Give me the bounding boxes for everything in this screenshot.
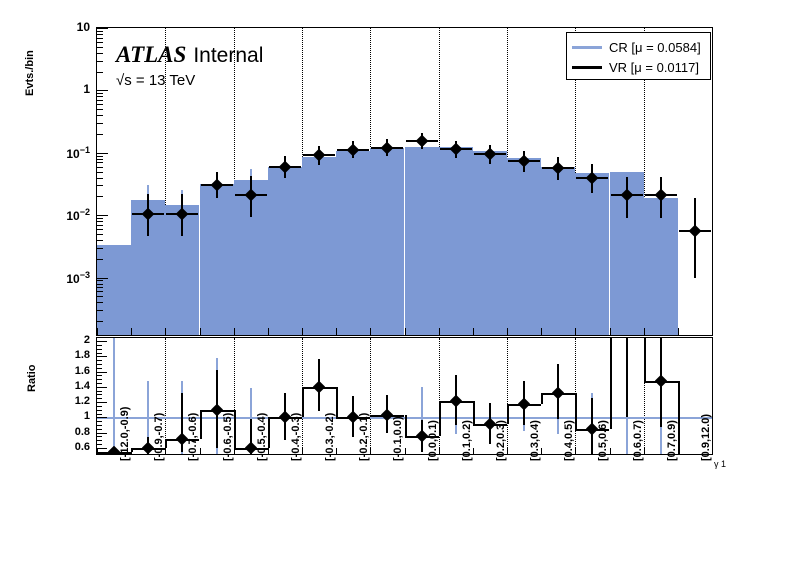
ratio-y-tick-label: 0.6: [42, 441, 90, 453]
ratio-y-minor-tick: [97, 448, 102, 449]
x-axis-tick: [644, 328, 645, 335]
main-y-minor-tick: [97, 302, 103, 303]
main-y-minor-tick: [97, 321, 103, 322]
x-axis-category-label: [-0.3,-0.2): [324, 413, 336, 461]
ratio-y-minor-tick: [97, 452, 102, 453]
ratio-step-riser: [405, 415, 407, 436]
x-axis-tick: [200, 328, 201, 335]
x-axis-tick: [439, 328, 440, 335]
main-y-minor-tick: [97, 221, 103, 222]
legend-entry-vr: VR [μ = 0.0117]: [572, 57, 705, 77]
x-axis-tick: [131, 328, 132, 335]
cr-histogram-bar: [473, 151, 507, 335]
x-axis-tick: [405, 328, 406, 335]
ratio-x-axis-tick: [541, 448, 542, 454]
main-y-minor-tick: [97, 34, 103, 35]
main-y-minor-tick: [97, 248, 103, 249]
main-y-minor-tick: [97, 100, 103, 101]
x-axis-tick: [97, 328, 98, 335]
main-y-tick-label: 10−1: [40, 145, 90, 161]
x-axis-tick: [165, 328, 166, 335]
main-y-minor-tick: [97, 234, 103, 235]
ratio-step-riser: [200, 410, 202, 439]
ratio-y-minor-tick: [97, 353, 102, 354]
atlas-status-label: Internal: [193, 44, 263, 68]
ratio-y-minor-tick: [97, 383, 102, 384]
cr-histogram-bar: [302, 157, 336, 335]
ratio-y-tick-label: 1.4: [42, 380, 90, 392]
ratio-x-axis-tick: [200, 448, 201, 454]
ratio-x-axis-tick: [131, 448, 132, 454]
ratio-x-axis-tick: [405, 448, 406, 454]
legend-entry-cr: CR [μ = 0.0584]: [572, 37, 705, 57]
ratio-data-marker: [654, 374, 667, 387]
main-y-major-tick: [97, 28, 108, 29]
ratio-y-minor-tick: [97, 394, 102, 395]
main-y-minor-tick: [97, 72, 103, 73]
cr-histogram-bar: [200, 184, 234, 335]
ratio-y-minor-tick: [97, 421, 102, 422]
ratio-error-bar: [626, 337, 628, 417]
x-axis-tick: [336, 328, 337, 335]
ratio-step-edge: [678, 381, 680, 454]
x-axis-category-label: [0.7,0.9): [666, 420, 678, 461]
ratio-x-axis-tick: [712, 448, 713, 454]
ratio-x-axis-tick: [302, 448, 303, 454]
x-axis-category-label: [-0.6,-0.5): [222, 413, 234, 461]
ratio-y-tick-label: 1.8: [42, 349, 90, 361]
ratio-y-minor-tick: [97, 345, 102, 346]
x-axis-category-label: [-0.2,-0.1): [358, 413, 370, 461]
x-axis-category-label: [-0.4,-0.3): [290, 413, 302, 461]
ratio-data-marker: [518, 397, 531, 410]
ratio-y-minor-tick: [97, 417, 102, 418]
x-axis-category-label: [-0.5,-0.4): [256, 413, 268, 461]
main-y-minor-tick: [97, 296, 103, 297]
x-axis-category-label: [0.5,0.6): [597, 420, 609, 461]
grid-line-vertical: [370, 338, 371, 454]
ratio-y-minor-tick: [97, 398, 102, 399]
x-axis-category-label: [0.6,0.7): [632, 420, 644, 461]
grid-line-vertical: [165, 338, 166, 454]
main-y-minor-tick: [97, 196, 103, 197]
ratio-y-minor-tick: [97, 406, 102, 407]
vr-error-bar: [694, 198, 696, 277]
main-y-minor-tick: [97, 96, 103, 97]
main-y-major-tick: [97, 278, 108, 279]
ratio-step-riser: [165, 439, 167, 448]
main-y-minor-tick: [97, 38, 103, 39]
ratio-y-minor-tick: [97, 440, 102, 441]
x-axis-category-label: [-12.0,-0.9): [119, 407, 131, 461]
main-y-tick-label: 10: [40, 20, 90, 34]
main-y-minor-tick: [97, 159, 103, 160]
ratio-y-minor-tick: [97, 356, 102, 357]
x-axis-tick: [712, 328, 713, 335]
cr-histogram-bar: [507, 158, 541, 335]
ratio-y-minor-tick: [97, 349, 102, 350]
main-y-major-tick: [97, 90, 108, 91]
main-y-minor-tick: [97, 115, 103, 116]
ratio-step-riser: [575, 393, 577, 429]
ratio-step-riser: [268, 417, 270, 448]
main-y-tick-label: 10−3: [40, 270, 90, 286]
ratio-data-marker: [313, 380, 326, 393]
main-y-minor-tick: [97, 185, 103, 186]
ratio-step-riser: [507, 404, 509, 425]
ratio-y-minor-tick: [97, 372, 102, 373]
ratio-y-minor-tick: [97, 410, 102, 411]
ratio-y-tick-label: 1.2: [42, 395, 90, 407]
cr-histogram-bar: [439, 147, 473, 335]
ratio-x-axis-tick: [336, 448, 337, 454]
ratio-y-minor-tick: [97, 444, 102, 445]
ratio-x-axis-tick: [370, 448, 371, 454]
main-y-tick-label: 1: [40, 82, 90, 96]
x-axis-category-label: [0.3,0.4): [529, 420, 541, 461]
main-y-minor-tick: [97, 104, 103, 105]
main-y-minor-tick: [97, 284, 103, 285]
main-y-minor-tick: [97, 225, 103, 226]
x-axis-tick: [473, 328, 474, 335]
ratio-data-marker: [449, 394, 462, 407]
ratio-step-riser: [302, 387, 304, 418]
main-y-minor-tick: [97, 93, 103, 94]
x-axis-category-label: [-0.9,-0.7): [153, 413, 165, 461]
cr-histogram-bar: [644, 198, 678, 335]
x-axis-category-label: [0.1,0.2): [461, 420, 473, 461]
cr-histogram-bar: [575, 173, 609, 335]
main-y-minor-tick: [97, 178, 103, 179]
ratio-y-minor-tick: [97, 364, 102, 365]
main-y-minor-tick: [97, 61, 103, 62]
x-axis-tick: [678, 328, 679, 335]
x-axis-tick: [370, 328, 371, 335]
ratio-y-tick-label: 1.6: [42, 365, 90, 377]
main-y-minor-tick: [97, 109, 103, 110]
ratio-y-minor-tick: [97, 436, 102, 437]
legend-box: CR [μ = 0.0584] VR [μ = 0.0117]: [566, 32, 711, 80]
ratio-step-riser: [473, 401, 475, 425]
cr-histogram-bar: [405, 147, 439, 335]
x-axis-tick: [234, 328, 235, 335]
ratio-y-minor-tick: [97, 341, 102, 342]
ratio-cr-uncertainty-whisker: [113, 338, 115, 454]
ratio-step-riser: [370, 415, 372, 417]
x-axis-tick: [541, 328, 542, 335]
legend-label-cr: CR [μ = 0.0584]: [609, 40, 701, 55]
x-axis-category-label: [0.0,0.1): [427, 420, 439, 461]
gamma-axis-note: γ 1: [714, 459, 726, 469]
figure-canvas: Evts./bin Ratio 10110−110−210−3 ATLAS In…: [0, 0, 796, 572]
main-y-minor-tick: [97, 31, 103, 32]
legend-swatch-cr: [572, 46, 602, 49]
ratio-y-minor-tick: [97, 379, 102, 380]
atlas-label-block: ATLAS Internal √s = 13 TeV: [116, 42, 263, 89]
cr-histogram-bar: [370, 148, 404, 335]
ratio-y-minor-tick: [97, 360, 102, 361]
main-y-minor-tick: [97, 310, 103, 311]
ratio-y-minor-tick: [97, 429, 102, 430]
ratio-y-minor-tick: [97, 391, 102, 392]
ratio-data-marker: [552, 387, 565, 400]
legend-swatch-vr: [572, 66, 602, 69]
ratio-y-tick-label: 2: [42, 334, 90, 346]
main-y-minor-tick: [97, 42, 103, 43]
legend-label-vr: VR [μ = 0.0117]: [609, 60, 699, 75]
ratio-y-tick-label: 0.8: [42, 426, 90, 438]
ratio-y-tick-label: 1: [42, 410, 90, 422]
cr-histogram-bar: [541, 167, 575, 335]
ratio-y-minor-tick: [97, 368, 102, 369]
main-y-minor-tick: [97, 162, 103, 163]
cr-histogram-bar: [336, 151, 370, 335]
main-y-minor-tick: [97, 287, 103, 288]
main-y-minor-tick: [97, 156, 103, 157]
x-axis-category-label: [-0.7,-0.6): [187, 413, 199, 461]
main-y-minor-tick: [97, 218, 103, 219]
ratio-x-axis-tick: [165, 448, 166, 454]
ratio-step-riser: [610, 337, 612, 429]
grid-line-vertical: [507, 338, 508, 454]
ratio-x-axis-tick: [575, 448, 576, 454]
main-y-minor-tick: [97, 240, 103, 241]
ratio-y-minor-tick: [97, 402, 102, 403]
ratio-step-riser: [336, 387, 338, 418]
x-axis-tick: [610, 328, 611, 335]
x-axis-tick: [507, 328, 508, 335]
main-y-minor-tick: [97, 53, 103, 54]
ratio-y-minor-tick: [97, 387, 102, 388]
ratio-step-riser: [644, 337, 646, 381]
x-axis-category-label: [-0.1,0.0): [392, 416, 404, 461]
x-axis-tick: [302, 328, 303, 335]
ratio-step-riser: [541, 393, 543, 404]
ratio-y-axis-title: Ratio: [26, 365, 38, 393]
main-y-minor-tick: [97, 291, 103, 292]
ratio-y-minor-tick: [97, 433, 102, 434]
x-axis-category-label: [0.2,0.3): [495, 420, 507, 461]
ratio-y-minor-tick: [97, 375, 102, 376]
vr-data-marker: [415, 135, 428, 148]
main-y-minor-tick: [97, 134, 103, 135]
ratio-x-axis-tick: [610, 448, 611, 454]
x-axis-category-label: [0.9,12.0): [700, 414, 712, 461]
x-axis-tick: [575, 328, 576, 335]
main-y-major-tick: [97, 153, 108, 154]
main-y-tick-label: 10−2: [40, 207, 90, 223]
main-y-minor-tick: [97, 172, 103, 173]
ratio-x-axis-tick: [507, 448, 508, 454]
main-y-minor-tick: [97, 167, 103, 168]
main-y-minor-tick: [97, 280, 103, 281]
main-y-minor-tick: [97, 259, 103, 260]
ratio-y-minor-tick: [97, 414, 102, 415]
main-y-minor-tick: [97, 229, 103, 230]
main-y-minor-tick: [97, 47, 103, 48]
main-y-major-tick: [97, 215, 108, 216]
main-y-minor-tick: [97, 123, 103, 124]
cr-histogram-bar: [268, 167, 302, 335]
x-axis-category-label: [0.4,0.5): [563, 420, 575, 461]
main-y-axis-title: Evts./bin: [24, 50, 36, 96]
atlas-wordmark: ATLAS: [116, 42, 186, 68]
vr-data-marker: [689, 225, 702, 238]
x-axis-tick: [268, 328, 269, 335]
centre-of-mass-energy-label: √s = 13 TeV: [116, 72, 263, 89]
ratio-y-minor-tick: [97, 425, 102, 426]
